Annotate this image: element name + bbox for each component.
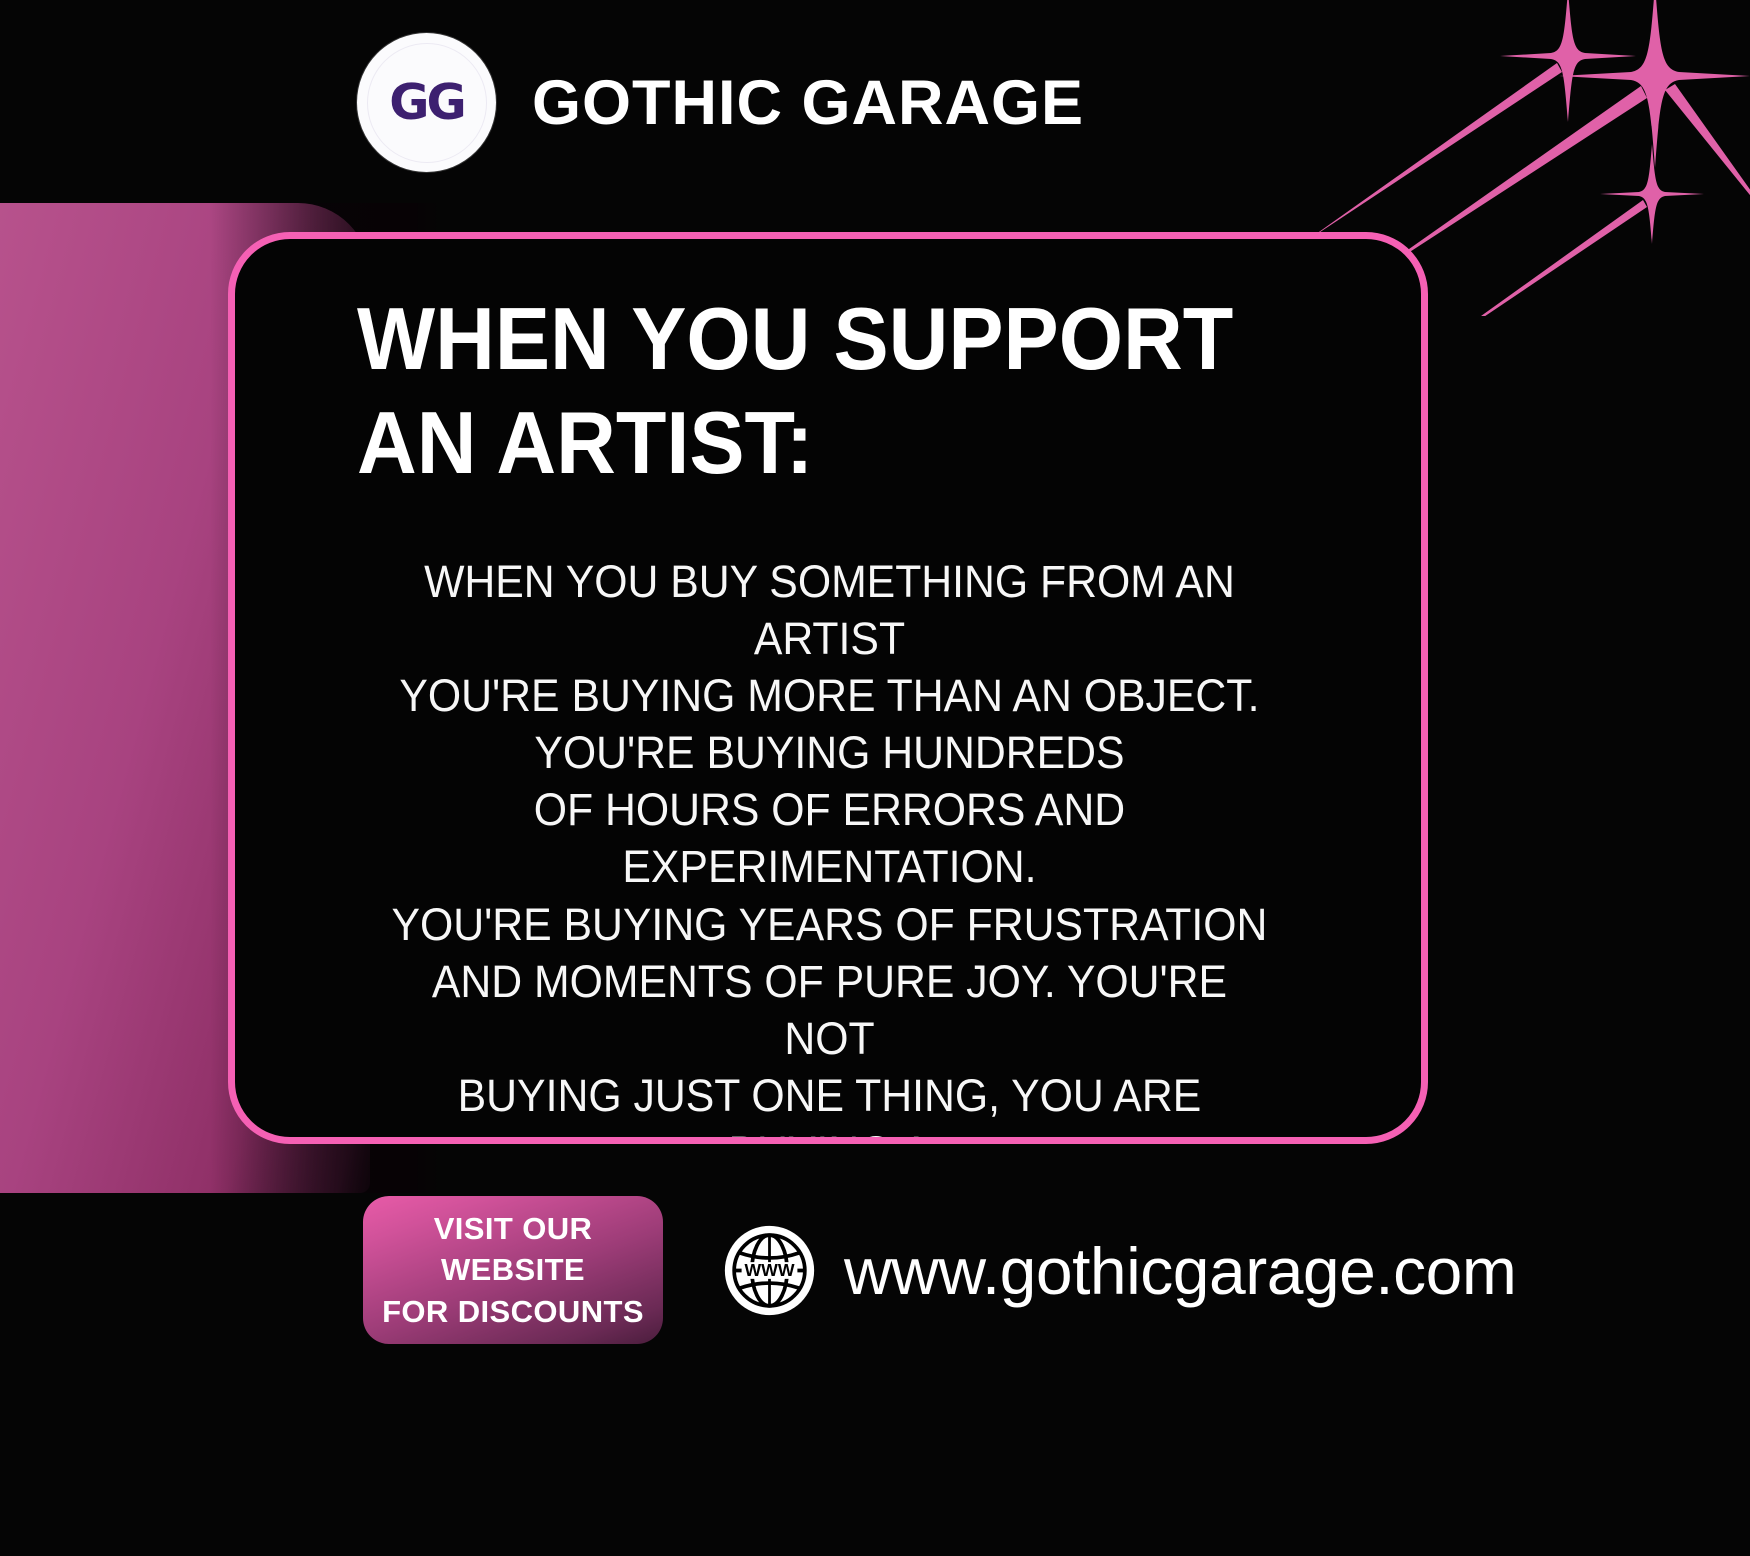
cta-line-2: WEBSITE [441,1249,585,1290]
globe-www-icon: WWW [723,1224,816,1317]
brand-name-text: GOTHIC GARAGE [532,67,1084,139]
website-url-row[interactable]: WWW www.gothicgarage.com [723,1224,1516,1317]
quote-card: WHEN YOU SUPPORT AN ARTIST: WHEN YOU BUY… [228,232,1428,1144]
quote-card-content: WHEN YOU SUPPORT AN ARTIST: WHEN YOU BUY… [235,239,1421,1137]
brand-logo-monogram: GG [389,78,463,127]
brand-logo-badge[interactable]: GG [357,33,496,172]
website-url-text: www.gothicgarage.com [844,1233,1516,1309]
globe-icon-www-label: WWW [745,1260,795,1280]
visit-website-cta-button[interactable]: VISIT OUR WEBSITE FOR DISCOUNTS [363,1196,663,1344]
card-body-copy: WHEN YOU BUY SOMETHING FROM AN ARTIST YO… [382,553,1332,1144]
card-headline: WHEN YOU SUPPORT AN ARTIST: [357,287,1297,495]
poster-canvas: GG GOTHIC GARAGE WHEN YOU SUPPORT AN ART… [0,0,1750,1556]
brand-logo-ring: GG [367,43,487,163]
brand-header: GG GOTHIC GARAGE [0,0,1750,205]
cta-line-3: FOR DISCOUNTS [382,1291,644,1332]
cta-line-1: VISIT OUR [434,1208,593,1249]
